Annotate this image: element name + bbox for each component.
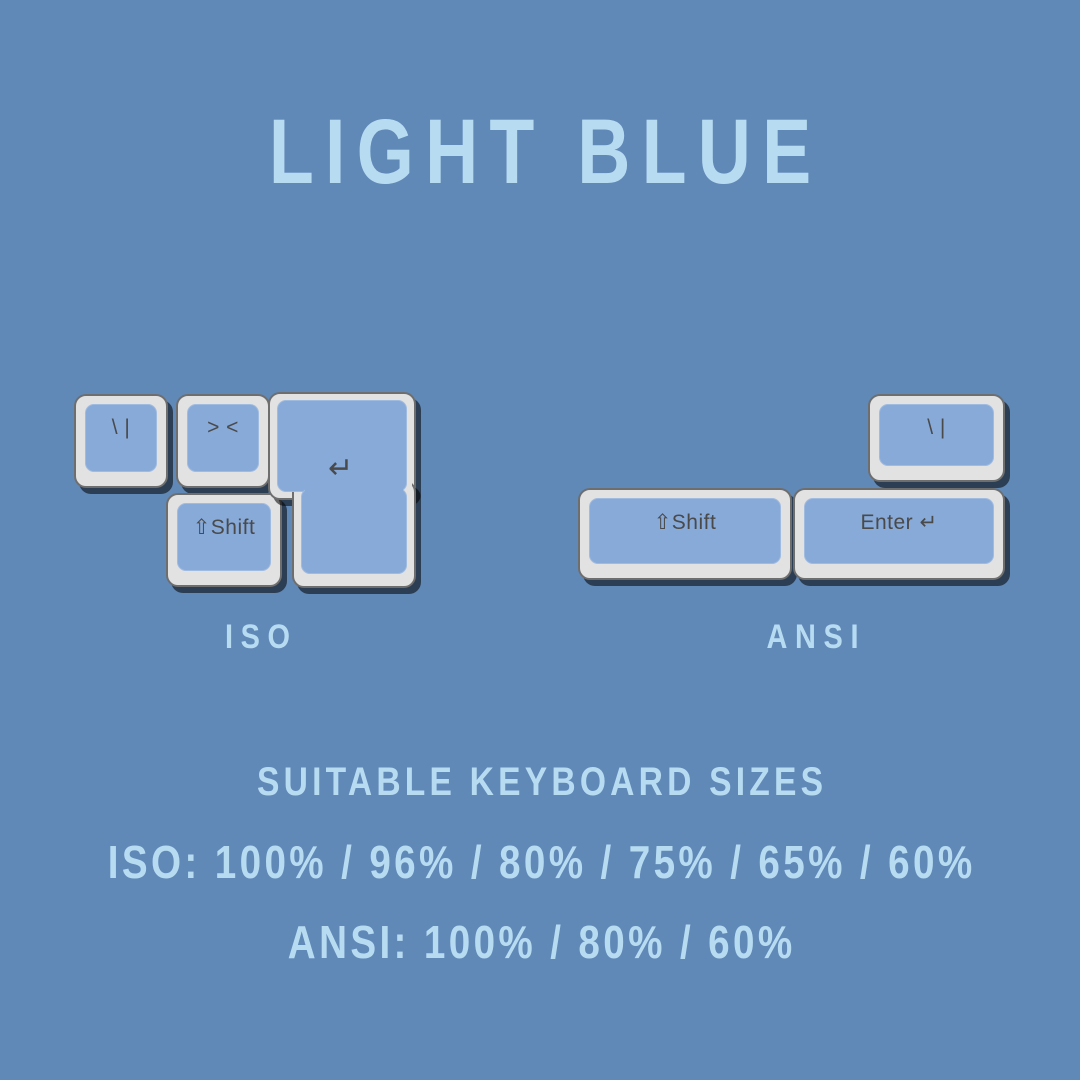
- footer-ansi-sizes: ANSI: 100% / 80% / 60%: [86, 915, 993, 969]
- footer-iso-sizes: ISO: 100% / 96% / 80% / 75% / 65% / 60%: [86, 835, 993, 889]
- page-title: LIGHT BLUE: [108, 106, 972, 198]
- iso-key-left-shift-legend: ⇧Shift: [177, 503, 271, 571]
- ansi-key-backslash-pipe[interactable]: \ |: [868, 394, 1005, 482]
- iso-section-label: ISO: [162, 618, 353, 657]
- ansi-key-left-shift-legend: ⇧Shift: [589, 498, 781, 564]
- ansi-key-left-shift[interactable]: ⇧Shift: [578, 488, 792, 580]
- ansi-key-enter[interactable]: Enter ↵: [793, 488, 1005, 580]
- iso-key-backslash-pipe-legend: \ |: [85, 404, 157, 472]
- footer-heading: SUITABLE KEYBOARD SIZES: [86, 760, 993, 805]
- ansi-key-enter-legend: Enter ↵: [804, 498, 994, 564]
- poster-canvas: LIGHT BLUE \ | > < ⇧Shift ↵: [0, 0, 1080, 1080]
- iso-enter-surface-seam: [305, 480, 403, 502]
- iso-key-enter[interactable]: ↵: [268, 392, 416, 588]
- iso-key-angle-brackets-legend: > <: [187, 404, 259, 472]
- iso-key-angle-brackets[interactable]: > <: [176, 394, 270, 488]
- ansi-key-backslash-pipe-legend: \ |: [879, 404, 994, 466]
- iso-key-left-shift[interactable]: ⇧Shift: [166, 493, 282, 587]
- iso-enter-legend: ↵: [328, 454, 353, 484]
- iso-key-backslash-pipe[interactable]: \ |: [74, 394, 168, 488]
- ansi-section-label: ANSI: [717, 618, 908, 657]
